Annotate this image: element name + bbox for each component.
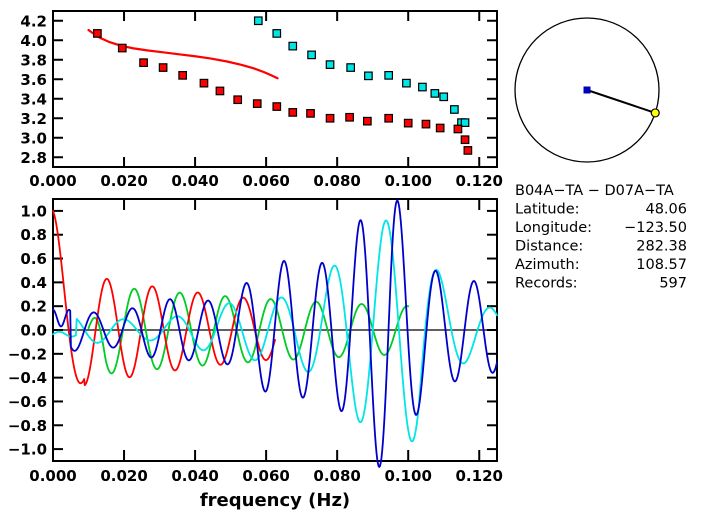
center-station-marker [584,87,591,94]
dispersion-x-tick-label: 0.100 [384,172,431,190]
data-point-marker [464,147,472,155]
data-point-marker [364,117,372,125]
spectra-x-tick-label: 0.120 [456,467,503,485]
spectra-y-tick-label: −0.2 [8,345,47,363]
data-point-marker [461,136,469,144]
data-point-marker [346,114,354,122]
data-point-marker [419,83,427,91]
spectra-y-tick-label: −0.4 [8,369,47,387]
info-value-longitude: −123.50 [624,220,687,236]
info-label-azimuth: Azimuth: [515,257,580,273]
info-value-distance: 282.38 [636,239,687,255]
station-pair-title: B04A−TA − D07A−TA [515,183,674,199]
data-point-marker [451,106,459,114]
data-point-marker [431,90,439,98]
spectra-y-tick-label: −0.8 [8,417,47,435]
figure-background [0,0,703,519]
data-point-marker [385,72,393,80]
dispersion-y-tick-label: 3.6 [20,71,47,89]
data-point-marker [234,96,242,104]
data-point-marker [179,72,187,80]
spectra-x-tick-label: 0.060 [242,467,289,485]
data-point-marker [326,61,334,69]
data-point-marker [365,72,373,80]
spectra-y-tick-label: 0.4 [20,274,47,292]
spectra-y-tick-label: 0.0 [20,322,47,340]
data-point-marker [253,100,260,108]
dispersion-y-tick-label: 2.8 [20,149,47,167]
figure-root: 2.83.03.23.43.63.84.04.2 0.0000.0200.040… [0,0,703,519]
data-point-marker [454,125,462,133]
info-label-longitude: Longitude: [515,220,592,236]
dispersion-x-tick-label: 0.060 [242,172,289,190]
dispersion-x-tick-labels: 0.0000.0200.0400.0600.0800.1000.120 [29,172,503,190]
data-point-marker [385,115,393,123]
dispersion-x-tick-label: 0.080 [313,172,360,190]
data-point-marker [436,124,444,132]
dispersion-y-tick-label: 4.2 [20,12,47,30]
spectra-x-tick-label: 0.080 [313,467,360,485]
data-point-marker [273,103,281,111]
dispersion-x-tick-label: 0.000 [29,172,76,190]
dispersion-x-tick-label: 0.120 [456,172,503,190]
data-point-marker [273,30,281,38]
spectra-y-tick-label: 0.8 [20,226,47,244]
info-label-latitude: Latitude: [515,202,580,218]
dispersion-y-tick-label: 3.4 [20,90,47,108]
data-point-marker [159,64,167,72]
info-value-latitude: 48.06 [645,202,687,218]
spectra-x-tick-label: 0.000 [29,467,76,485]
info-value-records: 597 [659,276,687,292]
dispersion-x-tick-label: 0.020 [100,172,147,190]
data-point-marker [403,79,411,87]
data-point-marker [308,51,316,59]
data-point-marker [216,87,224,95]
dispersion-y-tick-labels: 2.83.03.23.43.63.84.04.2 [20,12,47,167]
dispersion-x-tick-label: 0.040 [171,172,218,190]
spectra-x-tick-labels: 0.0000.0200.0400.0600.0800.1000.120 [29,467,503,485]
dispersion-y-tick-label: 3.8 [20,51,47,69]
remote-station-marker [651,109,659,117]
dispersion-y-tick-label: 3.0 [20,129,47,147]
spectra-x-tick-label: 0.020 [100,467,147,485]
data-point-marker [119,44,127,52]
data-point-marker [422,120,430,128]
data-point-marker [255,17,263,25]
spectra-y-tick-label: 0.6 [20,250,47,268]
data-point-marker [289,109,297,117]
spectra-x-tick-label: 0.040 [171,467,218,485]
info-label-records: Records: [515,276,578,292]
data-point-marker [326,115,334,123]
dispersion-y-tick-label: 4.0 [20,32,47,50]
spectra-y-tick-label: −0.6 [8,393,47,411]
spectra-x-tick-label: 0.100 [384,467,431,485]
x-axis-label: frequency (Hz) [200,490,350,511]
spectra-y-tick-label: 0.2 [20,298,47,316]
data-point-marker [289,42,297,50]
data-point-marker [440,93,448,101]
data-point-marker [461,119,469,127]
spectra-y-tick-label: 1.0 [20,202,47,220]
figure-svg: 2.83.03.23.43.63.84.04.2 0.0000.0200.040… [0,0,703,519]
data-point-marker [347,64,355,72]
info-value-azimuth: 108.57 [636,257,687,273]
data-point-marker [200,79,208,87]
data-point-marker [140,59,148,67]
data-point-marker [307,110,315,118]
dispersion-y-tick-label: 3.2 [20,110,47,128]
data-point-marker [94,30,102,38]
data-point-marker [404,119,412,127]
spectra-y-tick-label: −1.0 [8,441,47,459]
info-label-distance: Distance: [515,239,583,255]
